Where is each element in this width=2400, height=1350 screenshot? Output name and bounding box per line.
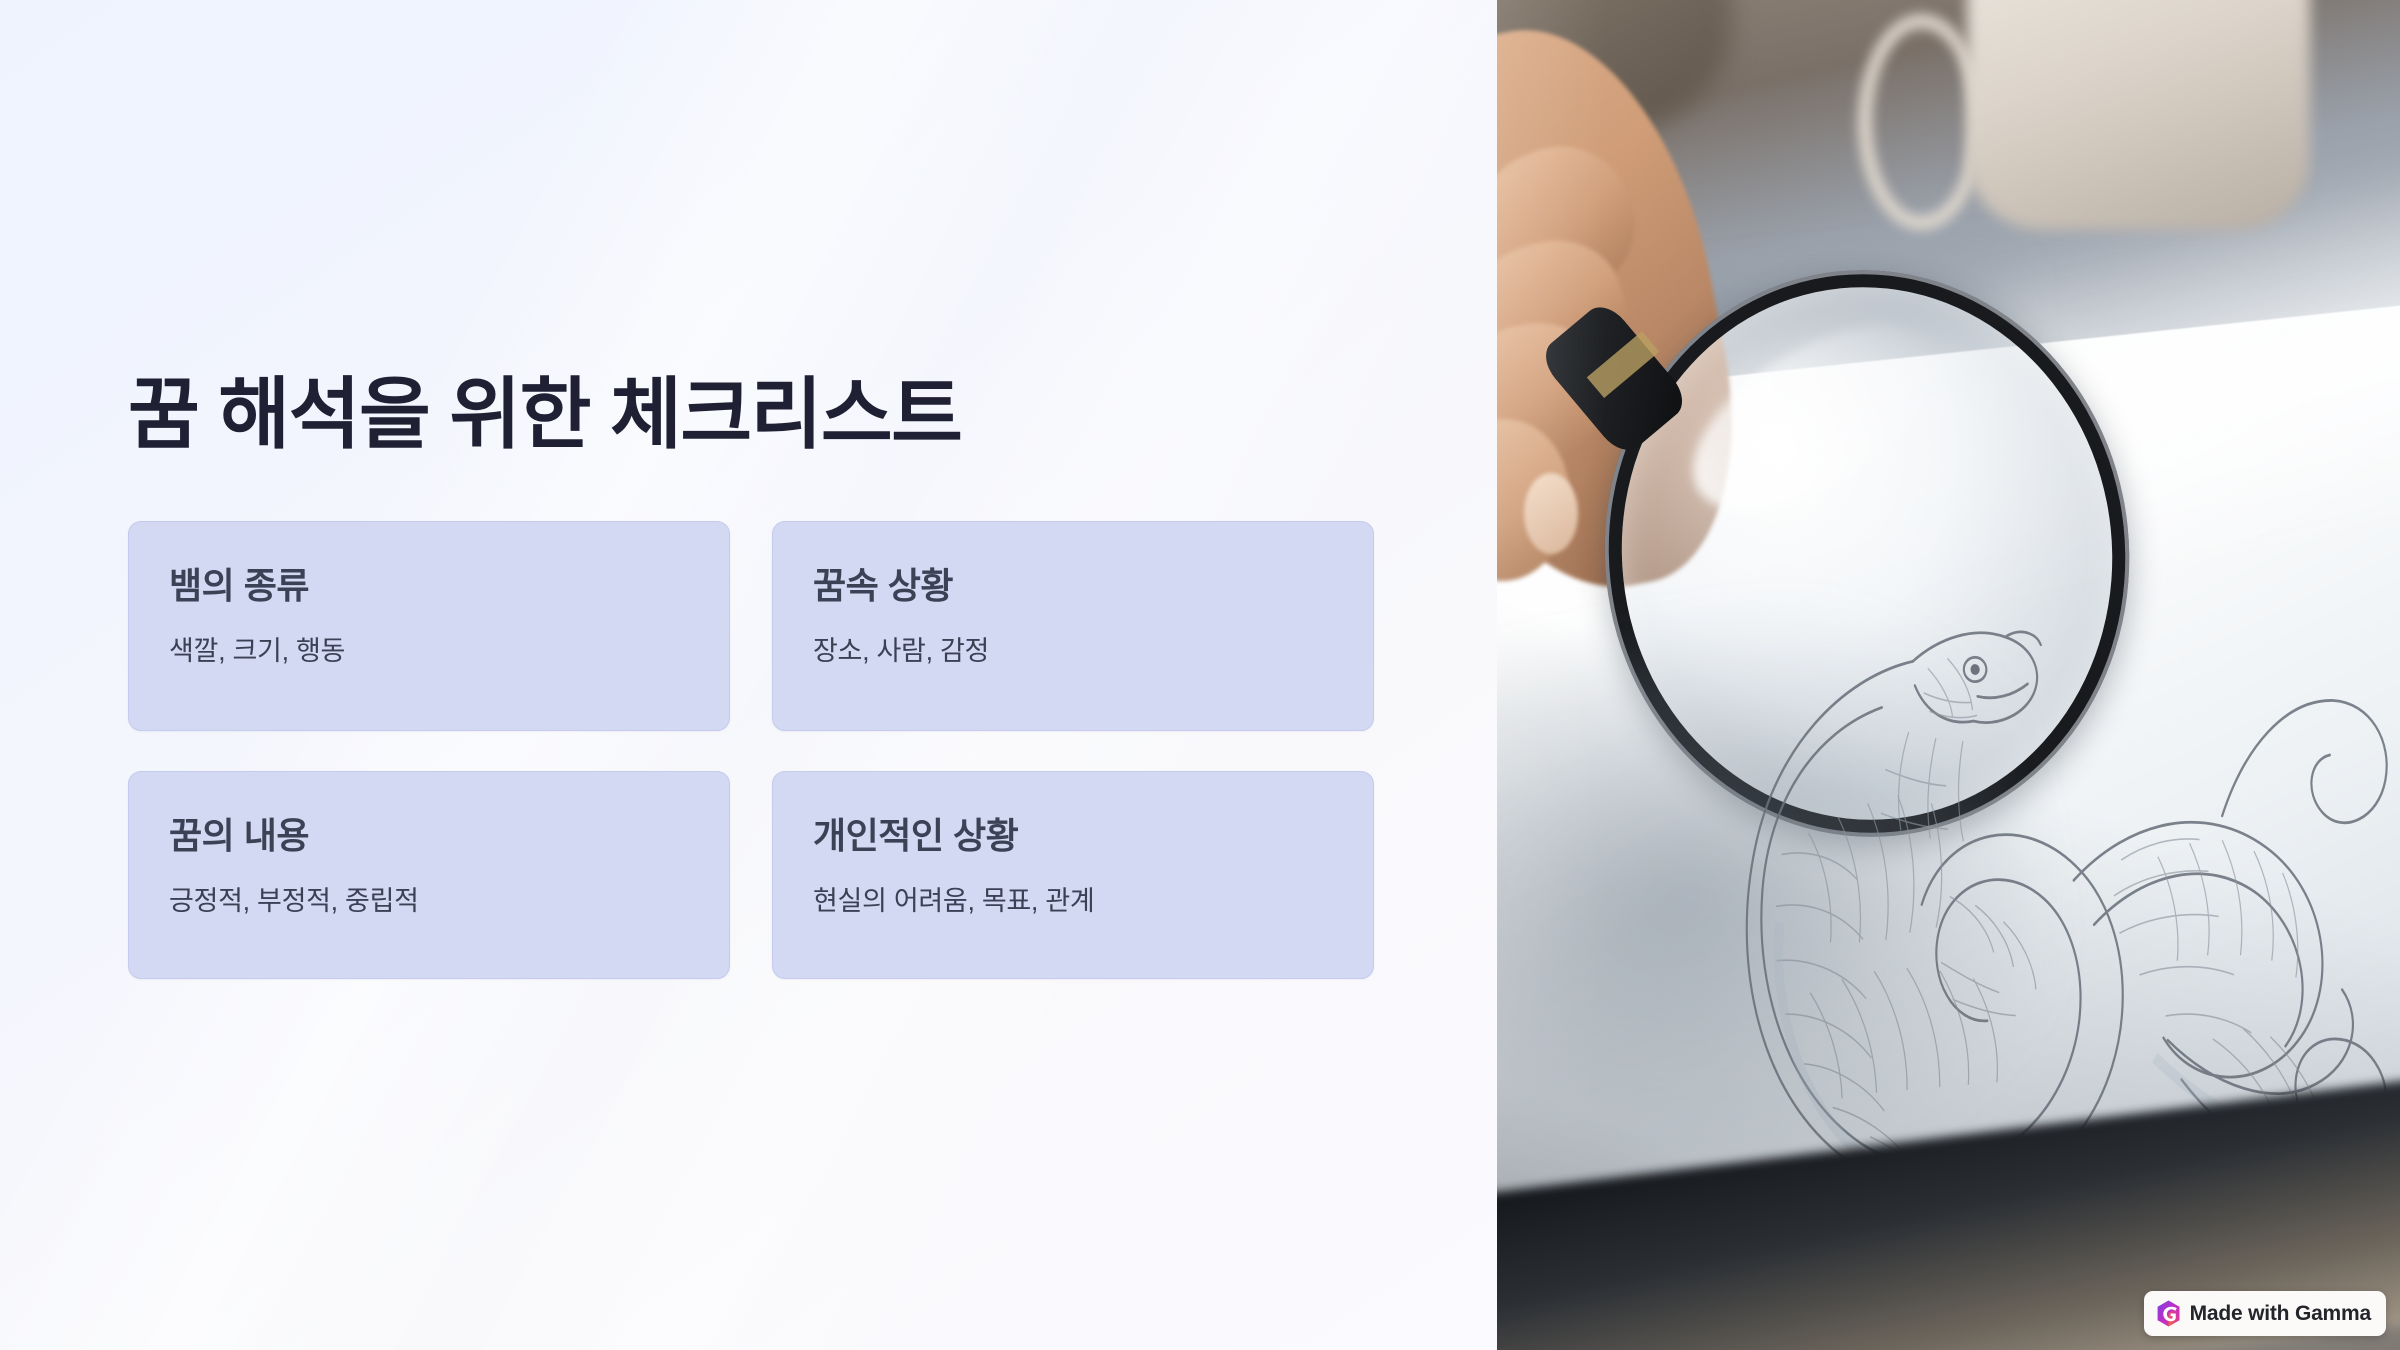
coffee-cup-handle — [1858, 14, 1984, 230]
card-description: 현실의 어려움, 목표, 관계 — [813, 883, 1333, 919]
coffee-cup-body — [1967, 0, 2310, 230]
card-title: 꿈의 내용 — [169, 814, 689, 857]
card-description: 긍정적, 부정적, 중립적 — [169, 883, 689, 919]
card-title: 뱀의 종류 — [169, 564, 689, 607]
image-panel: Made with Gamma — [1497, 0, 2400, 1350]
gamma-badge-label: Made with Gamma — [2190, 1303, 2371, 1324]
gamma-logo-icon — [2156, 1300, 2181, 1327]
hand-thumbnail — [1524, 473, 1578, 554]
card-title: 개인적인 상황 — [813, 814, 1333, 857]
card-description: 색깔, 크기, 행동 — [169, 633, 689, 669]
checklist-card-dream-content[interactable]: 꿈의 내용 긍정적, 부정적, 중립적 — [128, 771, 730, 979]
checklist-card-snake-type[interactable]: 뱀의 종류 색깔, 크기, 행동 — [128, 521, 730, 731]
content-panel: 꿈 해석을 위한 체크리스트 뱀의 종류 색깔, 크기, 행동 꿈속 상황 장소… — [0, 0, 1497, 1350]
checklist-card-personal-situation[interactable]: 개인적인 상황 현실의 어려움, 목표, 관계 — [772, 771, 1374, 979]
slide-root: 꿈 해석을 위한 체크리스트 뱀의 종류 색깔, 크기, 행동 꿈속 상황 장소… — [0, 0, 2400, 1350]
checklist-card-grid: 뱀의 종류 색깔, 크기, 행동 꿈속 상황 장소, 사람, 감정 꿈의 내용 … — [128, 521, 1374, 979]
photo-magnifier-snake-sketch — [1497, 0, 2400, 1350]
card-description: 장소, 사람, 감정 — [813, 633, 1333, 669]
card-title: 꿈속 상황 — [813, 564, 1333, 607]
content-inner: 꿈 해석을 위한 체크리스트 뱀의 종류 색깔, 크기, 행동 꿈속 상황 장소… — [128, 0, 1374, 1350]
checklist-card-dream-situation[interactable]: 꿈속 상황 장소, 사람, 감정 — [772, 521, 1374, 731]
page-title: 꿈 해석을 위한 체크리스트 — [128, 371, 1374, 458]
made-with-gamma-badge[interactable]: Made with Gamma — [2144, 1291, 2386, 1336]
